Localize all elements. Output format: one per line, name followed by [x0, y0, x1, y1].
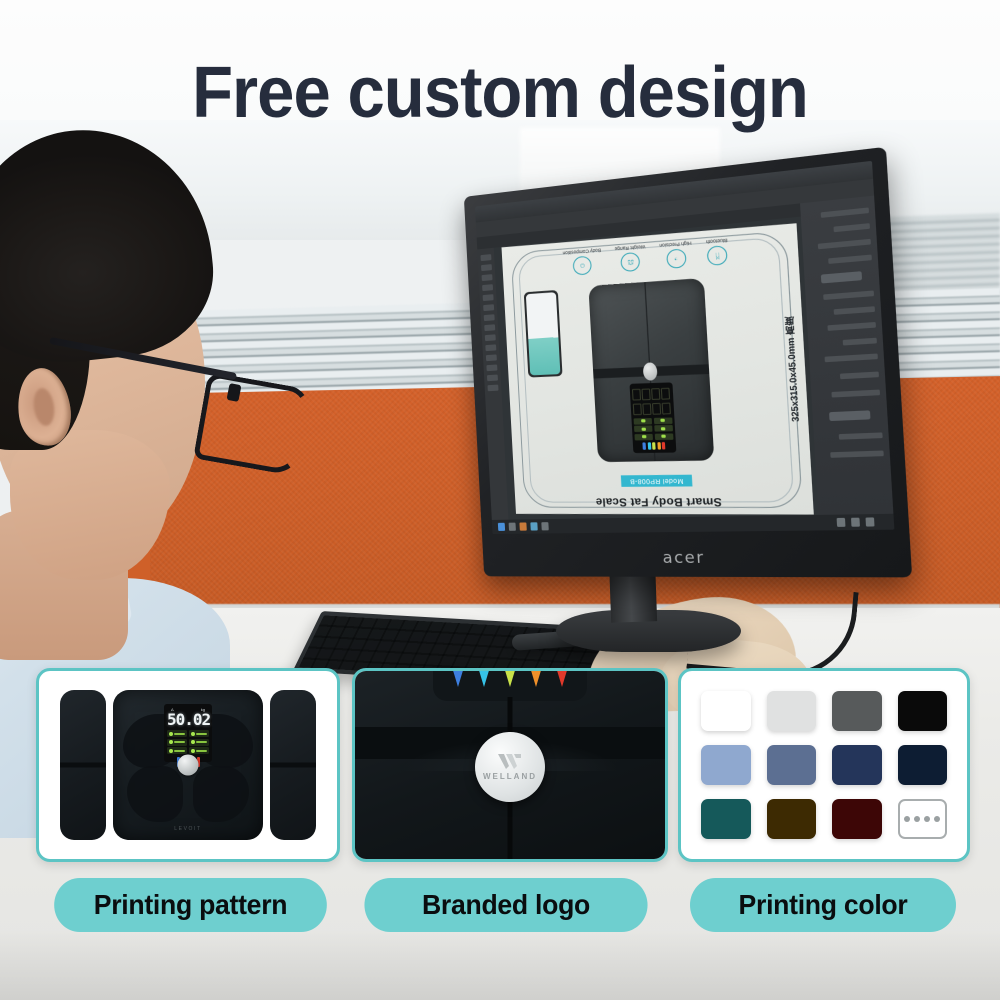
label-printing-pattern[interactable]: Printing pattern	[54, 878, 327, 932]
lcd-weight-value: 50.02	[167, 712, 209, 728]
lcd-metric-chips	[167, 730, 209, 754]
lcd-color-bars	[635, 442, 674, 450]
scale-thumb-right	[270, 690, 316, 840]
scale-center-knob	[643, 362, 658, 380]
scale-pattern-main: Δ kg 50.02	[113, 690, 263, 840]
welland-logo-badge: WELLAND	[475, 732, 545, 802]
scale-icon: ⚖	[621, 252, 641, 272]
acer-logo: acer	[483, 547, 912, 568]
feature-icon-body: ☺ Body Composition	[563, 248, 603, 277]
body-icon: ☺	[573, 256, 593, 276]
color-swatch-slate-blue[interactable]	[767, 745, 817, 785]
jaw	[10, 430, 170, 580]
acer-monitor: ᛗ Bluetooth ◔ High Precision ⚖ Weight Ra…	[464, 147, 912, 578]
pointer-triangles	[452, 668, 568, 687]
color-swatch-light-gray[interactable]	[767, 691, 817, 731]
lcd-digits	[633, 403, 672, 416]
color-swatch-light-blue[interactable]	[701, 745, 751, 785]
dot-icon	[904, 816, 910, 822]
label-branded-logo[interactable]: Branded logo	[364, 878, 647, 932]
feature-caption: Weight Range	[614, 244, 645, 252]
feature-icon-bluetooth: ᛗ Bluetooth	[706, 238, 729, 266]
lcd-metric-chips	[634, 417, 674, 440]
color-swatch-dark-gray[interactable]	[832, 691, 882, 731]
more-colors-button[interactable]	[898, 799, 948, 839]
panel-branded-logo[interactable]: WELLAND	[352, 668, 668, 862]
feature-icon-range: ⚖ Weight Range	[614, 244, 646, 272]
feature-panels: Δ kg 50.02	[0, 668, 1000, 863]
page-title: Free custom design	[35, 52, 965, 134]
artboard-title: Smart Body Fat Scale	[515, 495, 813, 508]
glasses-lens	[193, 372, 312, 477]
scale-logo-surface: WELLAND	[355, 671, 665, 859]
poster-stage: ᛗ Bluetooth ◔ High Precision ⚖ Weight Ra…	[0, 0, 1000, 1000]
scale-thumb-left	[60, 690, 106, 840]
color-swatch-navy[interactable]	[832, 745, 882, 785]
color-swatch-black[interactable]	[898, 691, 948, 731]
color-swatch-dark-maroon[interactable]	[832, 799, 882, 839]
artboard[interactable]: ᛗ Bluetooth ◔ High Precision ⚖ Weight Ra…	[502, 223, 814, 514]
dot-icon	[924, 816, 930, 822]
phone-screen	[526, 292, 561, 375]
panel-printing-color[interactable]	[678, 668, 970, 862]
color-swatch-grid	[701, 691, 947, 839]
scale-artwork	[588, 278, 714, 462]
feature-caption: High Precision	[659, 240, 692, 248]
panel-labels: Printing pattern Branded logo Printing c…	[0, 878, 1000, 934]
person-at-desk	[0, 130, 290, 690]
color-swatch-teal[interactable]	[701, 799, 751, 839]
bluetooth-icon: ᛗ	[707, 245, 728, 266]
monitor-screen[interactable]: ᛗ Bluetooth ◔ High Precision ⚖ Weight Ra…	[475, 161, 894, 534]
welland-logo-text: WELLAND	[483, 772, 537, 781]
scale-lcd	[629, 382, 676, 453]
phone-mockup	[524, 290, 563, 377]
panel-printing-pattern[interactable]: Δ kg 50.02	[36, 668, 340, 862]
artboard-model-badge: Model RP008-B	[621, 475, 692, 487]
color-swatch-dark-brown[interactable]	[767, 799, 817, 839]
scale-brand-text: LEVOIT	[113, 826, 263, 832]
welland-mark-icon	[497, 753, 523, 770]
desk-shadow	[0, 930, 1000, 1000]
scale-display: Δ kg 50.02	[164, 704, 212, 762]
dot-icon	[914, 816, 920, 822]
clock-icon: ◔	[666, 248, 687, 269]
label-printing-color[interactable]: Printing color	[690, 878, 956, 932]
color-swatch-white[interactable]	[701, 691, 751, 731]
feature-caption: Bluetooth	[706, 238, 728, 245]
lcd-digits-row2	[632, 388, 671, 401]
dot-icon	[934, 816, 940, 822]
scale-center-knob	[178, 755, 199, 776]
color-swatch-midnight[interactable]	[898, 745, 948, 785]
feature-icon-precision: ◔ High Precision	[659, 240, 693, 269]
